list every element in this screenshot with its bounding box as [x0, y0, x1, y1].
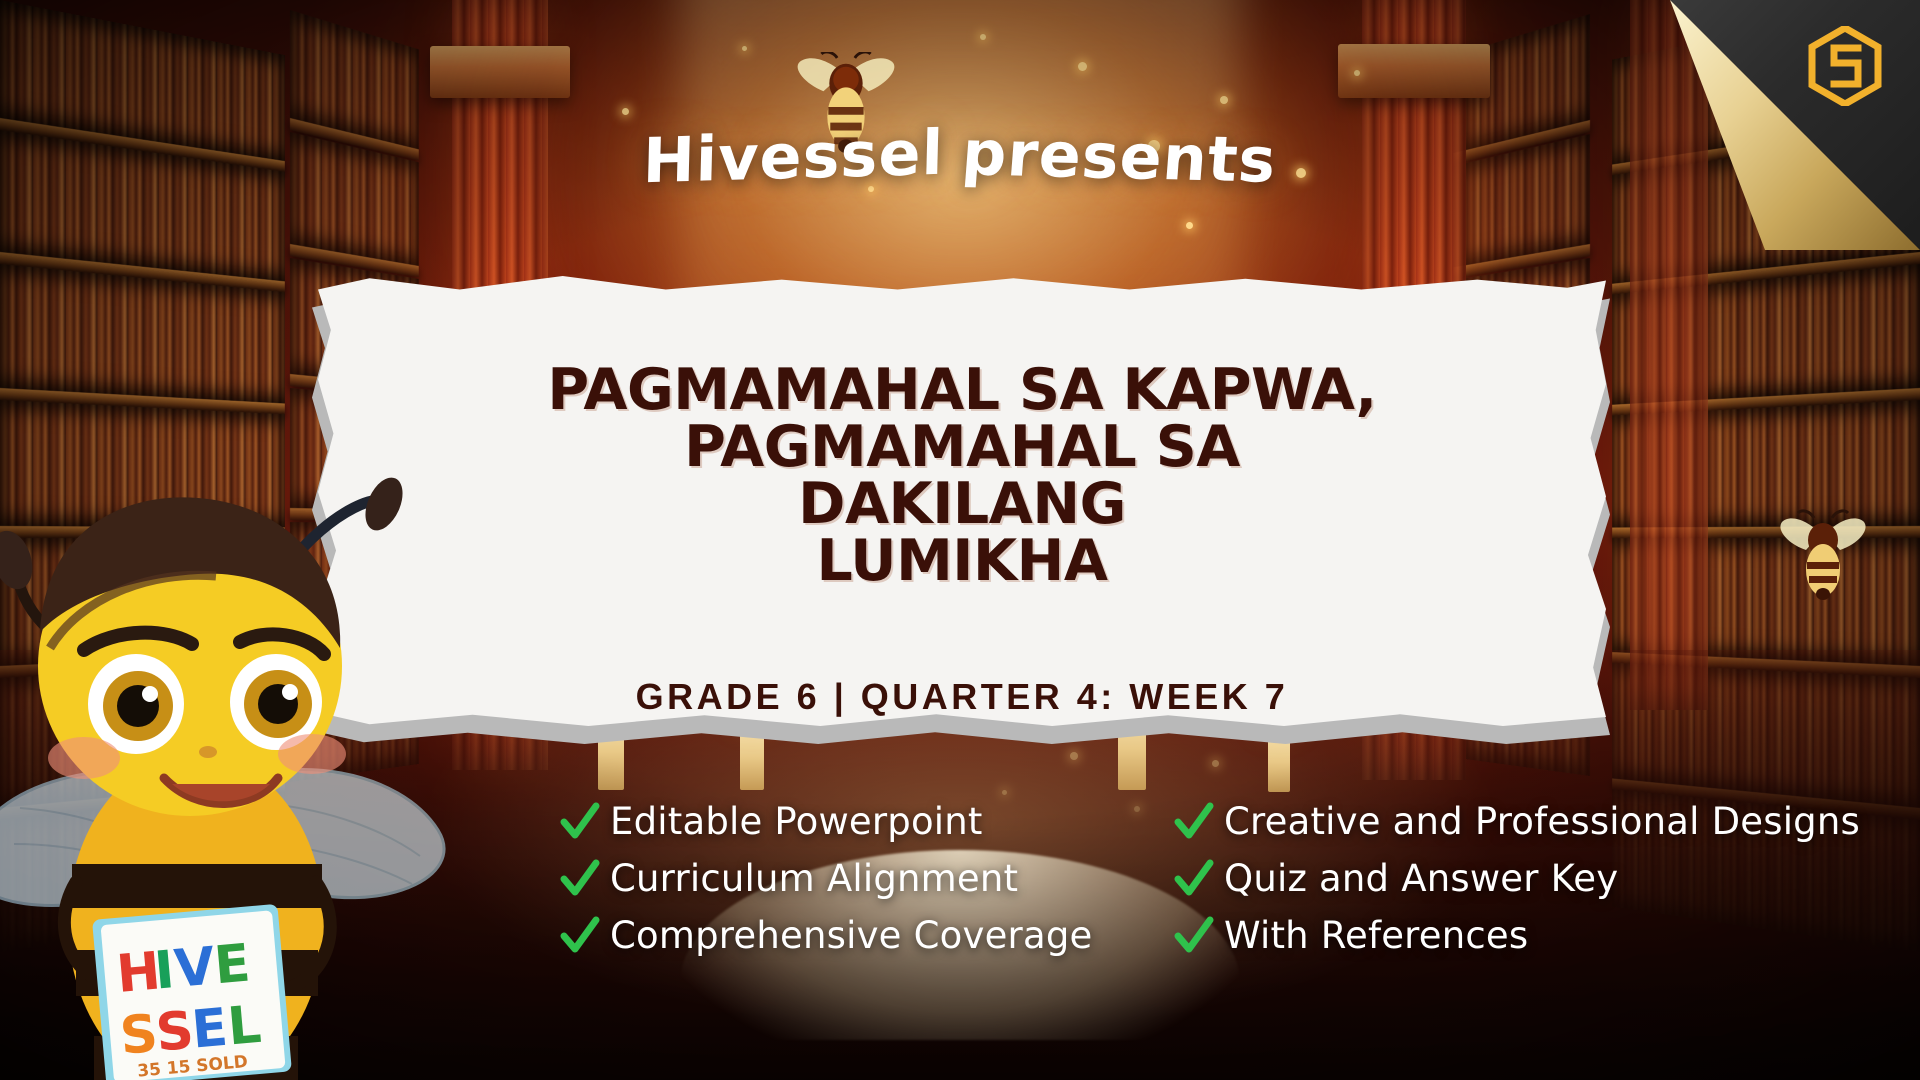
feature-label: Creative and Professional Designs	[1224, 800, 1860, 843]
feature-list: Editable Powerpoint Creative and Profess…	[560, 800, 1900, 957]
corner-fold	[1670, 0, 1920, 250]
feature-item: Creative and Professional Designs	[1174, 800, 1914, 843]
bee-mascot-holding-book: H I V E S S E L 35 15 SOLD	[0, 452, 520, 1080]
svg-text:L: L	[225, 995, 263, 1058]
green-check-icon	[560, 859, 600, 899]
title-line-1: Pagmamahal sa Kapwa,	[512, 362, 1412, 419]
feature-label: Quiz and Answer Key	[1224, 857, 1618, 900]
feature-item: With References	[1174, 914, 1914, 957]
title-line-2: Pagmamahal sa Dakilang	[512, 419, 1412, 533]
green-check-icon	[560, 802, 600, 842]
feature-label: Editable Powerpoint	[610, 800, 983, 843]
feature-label: With References	[1224, 914, 1528, 957]
feature-item: Editable Powerpoint	[560, 800, 1160, 843]
svg-text:V: V	[172, 937, 217, 1000]
green-check-icon	[1174, 916, 1214, 956]
green-check-icon	[1174, 859, 1214, 899]
feature-item: Quiz and Answer Key	[1174, 857, 1914, 900]
feature-label: Curriculum Alignment	[610, 857, 1018, 900]
svg-text:E: E	[212, 934, 253, 997]
green-check-icon	[1174, 802, 1214, 842]
brand-presents-line: Hivesselpresents	[0, 120, 1920, 193]
hivessel-hex-logo[interactable]	[1808, 26, 1882, 106]
feature-item: Comprehensive Coverage	[560, 914, 1160, 957]
green-check-icon	[560, 916, 600, 956]
presents-word: presents	[959, 116, 1279, 197]
feature-item: Curriculum Alignment	[560, 857, 1160, 900]
flying-bee-icon	[1768, 508, 1878, 604]
svg-text:E: E	[189, 998, 230, 1061]
page-title: Pagmamahal sa Kapwa, Pagmamahal sa Dakil…	[512, 362, 1412, 590]
title-line-3: Lumikha	[512, 533, 1412, 590]
feature-label: Comprehensive Coverage	[610, 914, 1092, 957]
brand-name: Hivessel	[642, 116, 945, 197]
grade-quarter-week-label: GRADE 6 | QUARTER 4: WEEK 7	[636, 676, 1289, 718]
